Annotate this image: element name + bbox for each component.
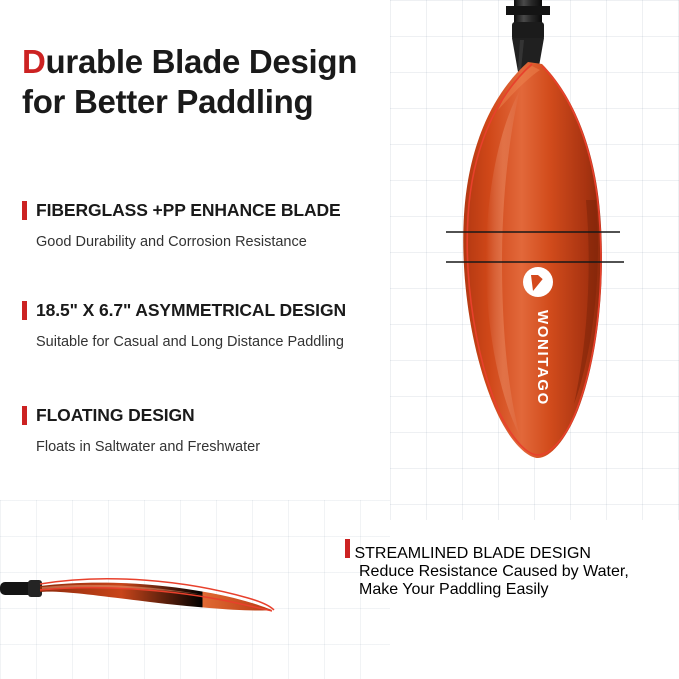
page-title: Durable Blade Design for Better Paddling <box>22 42 392 123</box>
blade-profile-photo <box>0 540 330 650</box>
feature-subtitle: Suitable for Casual and Long Distance Pa… <box>36 332 402 353</box>
feature-subtitle: Reduce Resistance Caused by Water, Make … <box>359 563 659 599</box>
headline-accent-letter: D <box>22 43 46 80</box>
feature-title-row: 18.5" X 6.7" ASYMMETRICAL DESIGN <box>22 300 402 321</box>
brand-name-vertical: WONITAGO <box>534 310 551 406</box>
feature-item-floating: FLOATING DESIGN Floats in Saltwater and … <box>22 405 402 458</box>
feature-subtitle: Floats in Saltwater and Freshwater <box>36 437 402 458</box>
feature-item-fiberglass: FIBERGLASS +PP ENHANCE BLADE Good Durabi… <box>22 200 402 253</box>
red-bar-marker-icon <box>22 406 27 425</box>
feature-title: 18.5" X 6.7" ASYMMETRICAL DESIGN <box>36 300 346 321</box>
red-bar-marker-icon <box>22 201 27 220</box>
feature-subtitle: Good Durability and Corrosion Resistance <box>36 232 402 253</box>
feature-title: FIBERGLASS +PP ENHANCE BLADE <box>36 200 341 221</box>
feature-subtitle-line-2: Make Your Paddling Easily <box>359 581 548 598</box>
feature-subtitle-line-1: Reduce Resistance Caused by Water, <box>359 563 629 580</box>
product-feature-infographic: Durable Blade Design for Better Paddling… <box>0 0 679 679</box>
headline-line-2: for Better Paddling <box>22 83 313 120</box>
feature-title: FLOATING DESIGN <box>36 405 195 426</box>
paddle-shaft-stub-icon <box>0 580 42 597</box>
paddle-blade-photo: WONITAGO <box>420 0 660 500</box>
feature-title-row: STREAMLINED BLADE DESIGN <box>345 538 665 563</box>
feature-title-row: FIBERGLASS +PP ENHANCE BLADE <box>22 200 402 221</box>
brand-swoosh-icon <box>523 267 553 297</box>
red-bar-marker-icon <box>22 301 27 320</box>
feature-title-row: FLOATING DESIGN <box>22 405 402 426</box>
feature-item-asymmetrical: 18.5" X 6.7" ASYMMETRICAL DESIGN Suitabl… <box>22 300 402 353</box>
section-divider <box>0 500 679 501</box>
red-bar-marker-icon <box>345 539 350 558</box>
feature-item-streamlined: STREAMLINED BLADE DESIGN Reduce Resistan… <box>345 538 665 599</box>
feature-title: STREAMLINED BLADE DESIGN <box>354 545 591 562</box>
headline-line-1: urable Blade Design <box>46 43 358 80</box>
blade-profile-curve-icon <box>40 583 272 611</box>
paddle-shaft-icon <box>506 0 550 72</box>
